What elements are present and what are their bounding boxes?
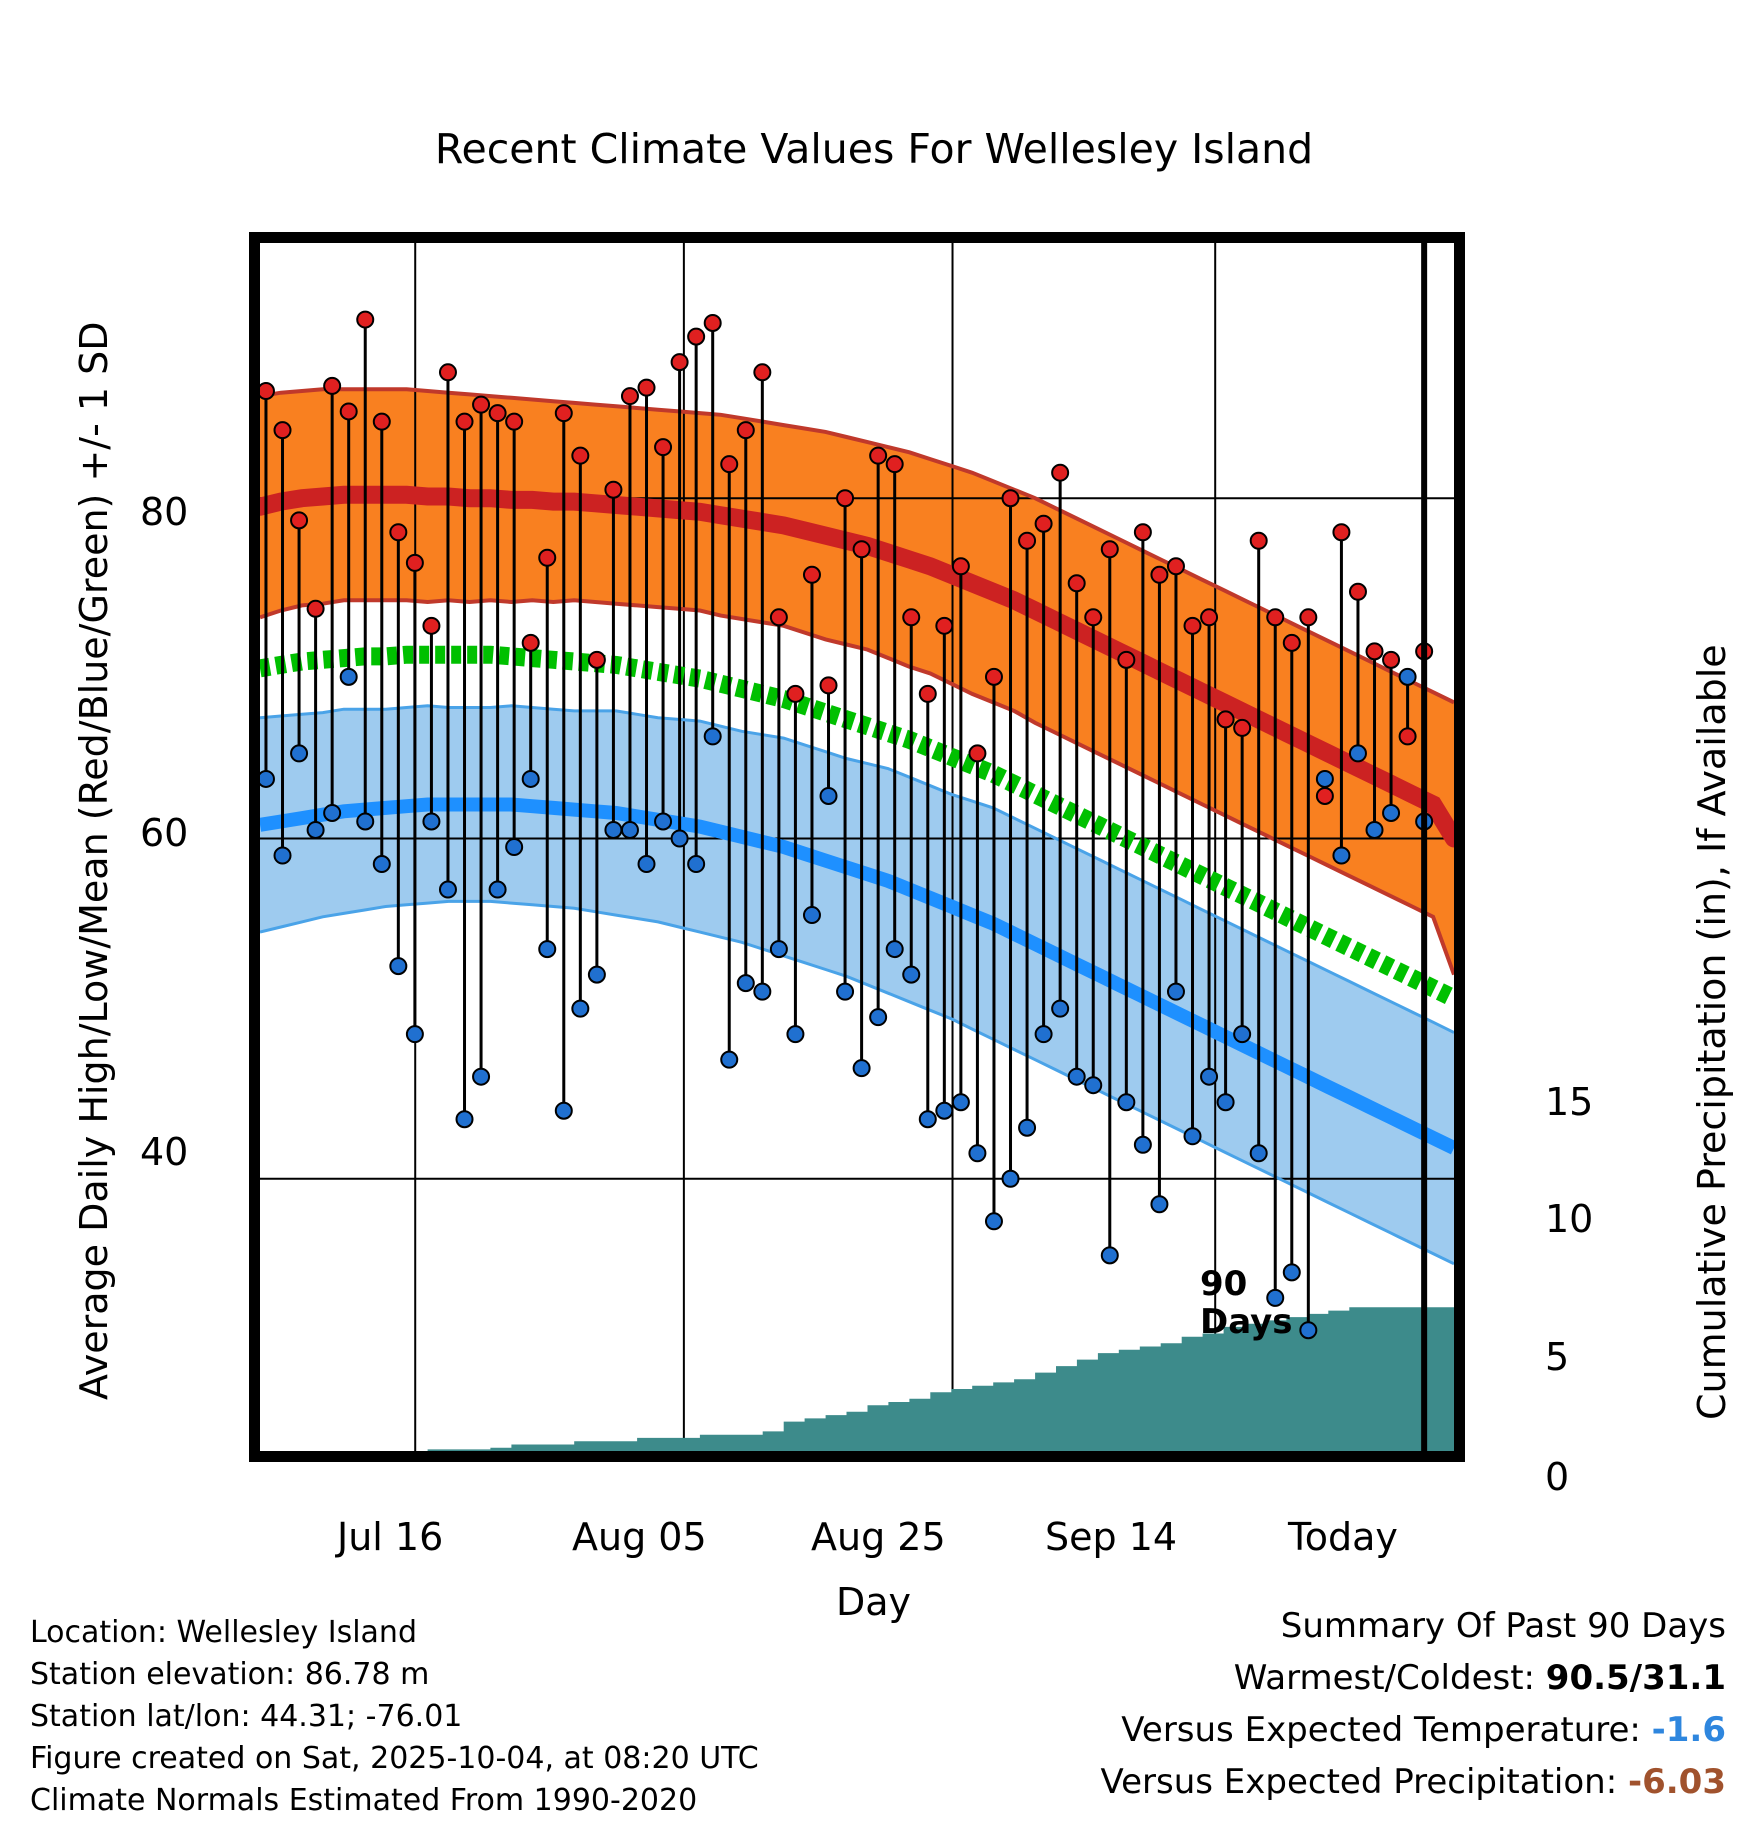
summary-heading: Summary Of Past 90 Days — [1100, 1600, 1726, 1652]
footer-latlon: Station lat/lon: 44.31; -76.01 — [30, 1696, 759, 1738]
summary-vs-precip-value: -6.03 — [1628, 1762, 1726, 1802]
summary-warmest-coldest-value: 90.5/31.1 — [1546, 1658, 1726, 1698]
chart-canvas — [260, 243, 1454, 1451]
x-tick-sep-14: Sep 14 — [1045, 1515, 1177, 1559]
y-tick-left-60: 60 — [140, 811, 188, 855]
footer-elevation: Station elevation: 86.78 m — [30, 1654, 759, 1696]
y-tick-left-80: 80 — [140, 490, 188, 534]
annotation-days: Days — [1200, 1303, 1293, 1341]
footer-location: Location: Wellesley Island — [30, 1612, 759, 1654]
y-tick-right-10: 10 — [1545, 1197, 1593, 1241]
y-tick-right-0: 0 — [1545, 1455, 1569, 1499]
x-tick-aug-25: Aug 25 — [811, 1515, 946, 1559]
x-tick-jul-16: Jul 16 — [337, 1515, 443, 1559]
chart-plot-area: 90 Days — [249, 232, 1465, 1462]
y-tick-right-15: 15 — [1545, 1080, 1593, 1124]
y-tick-left-40: 40 — [140, 1130, 188, 1174]
page-title: Recent Climate Values For Wellesley Isla… — [0, 125, 1748, 173]
summary-vs-temp-value: -1.6 — [1652, 1710, 1726, 1750]
y-tick-right-5: 5 — [1545, 1335, 1569, 1379]
annotation-90: 90 — [1200, 1265, 1247, 1303]
summary-warmest-coldest-label: Warmest/Coldest: — [1234, 1658, 1535, 1698]
summary-vs-precip-label: Versus Expected Precipitation: — [1100, 1762, 1617, 1802]
x-axis-label: Day — [836, 1580, 911, 1624]
summary-vs-temp: Versus Expected Temperature: -1.6 — [1100, 1704, 1726, 1756]
footer-created: Figure created on Sat, 2025-10-04, at 08… — [30, 1738, 759, 1780]
footer-left-block: Location: Wellesley Island Station eleva… — [30, 1612, 759, 1822]
summary-vs-precip: Versus Expected Precipitation: -6.03 — [1100, 1756, 1726, 1808]
footer-normals: Climate Normals Estimated From 1990-2020 — [30, 1780, 759, 1822]
summary-vs-temp-label: Versus Expected Temperature: — [1121, 1710, 1641, 1750]
y-axis-right-label: Cumulative Precipitation (in), If Availa… — [1690, 644, 1734, 1420]
y-axis-left-label: Average Daily High/Low/Mean (Red/Blue/Gr… — [72, 321, 116, 1400]
summary-warmest-coldest: Warmest/Coldest: 90.5/31.1 — [1100, 1652, 1726, 1704]
x-tick-today: Today — [1288, 1515, 1398, 1559]
x-tick-aug-05: Aug 05 — [572, 1515, 707, 1559]
summary-block: Summary Of Past 90 Days Warmest/Coldest:… — [1100, 1600, 1726, 1808]
